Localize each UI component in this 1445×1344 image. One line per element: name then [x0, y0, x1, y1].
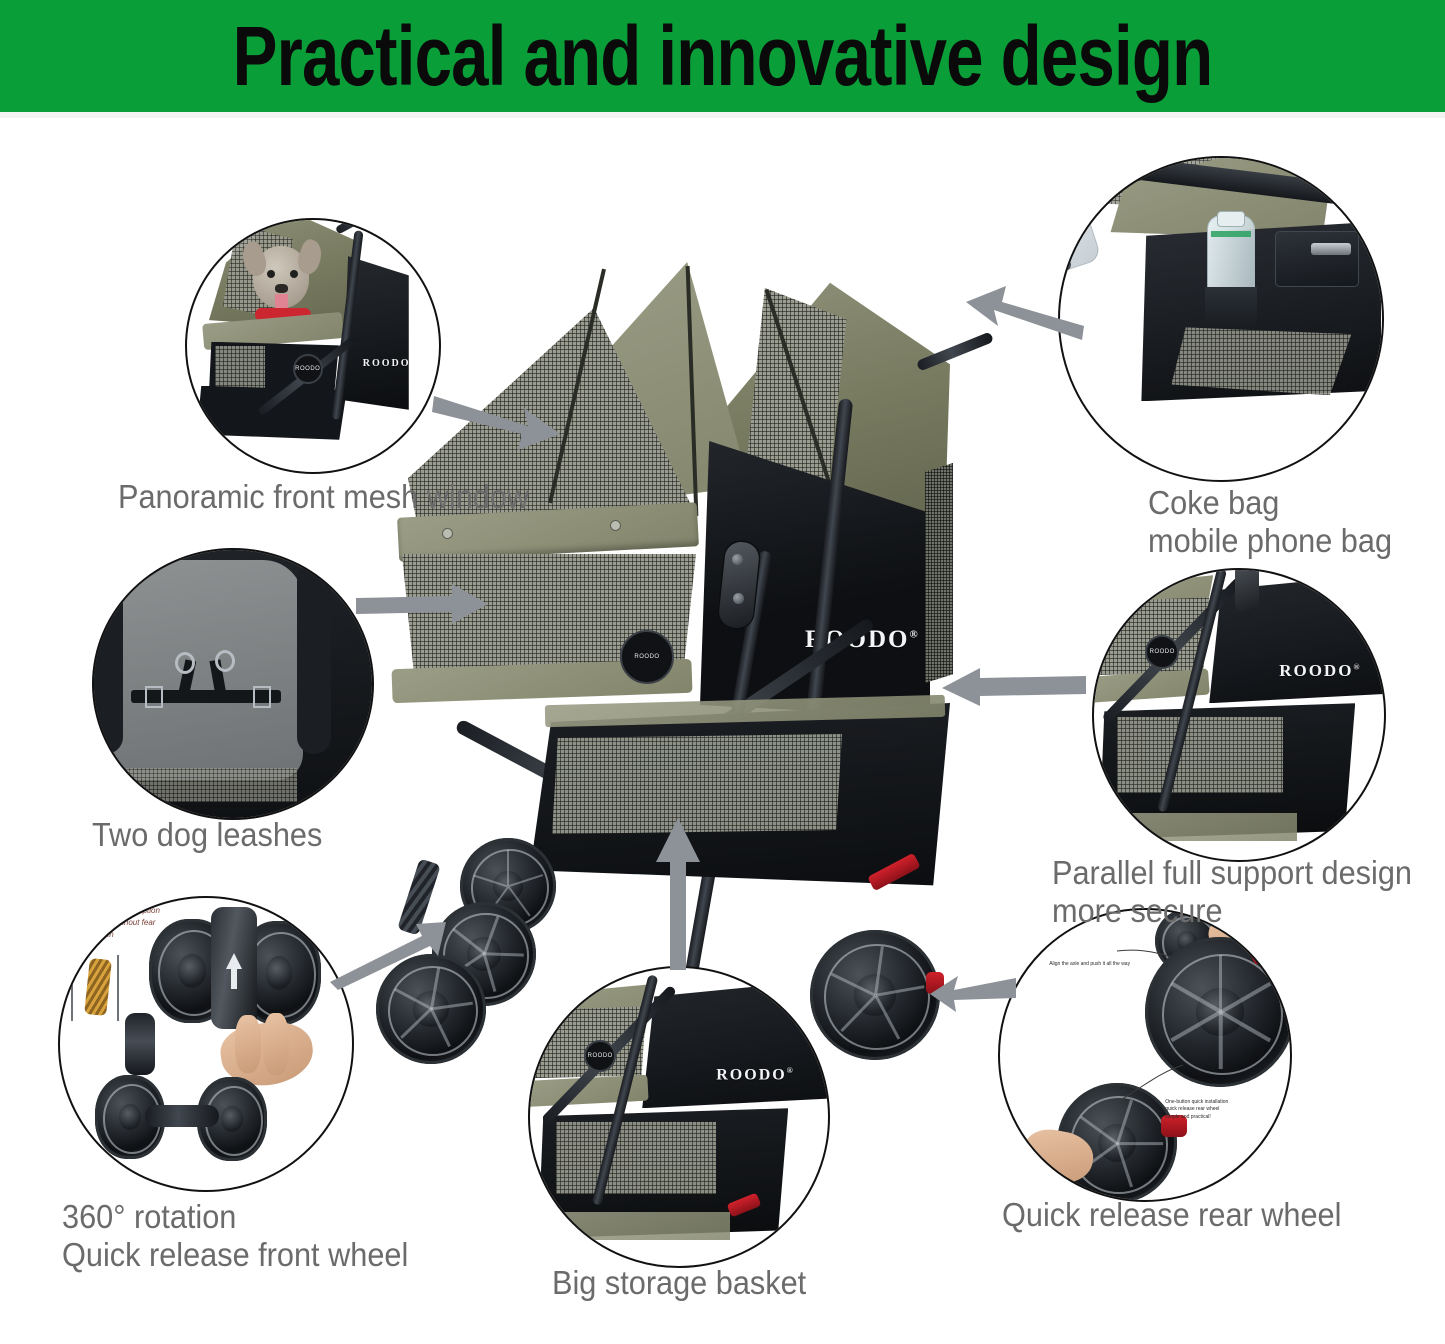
leash-clip [215, 650, 235, 672]
arrow-leashes-to-product [356, 584, 490, 628]
label-coke-bag-mobile-phone-bag: Coke bagmobile phone bag [1148, 484, 1392, 561]
brand-badge: ROODO [620, 630, 674, 684]
callout-photo-parallel-support: ROODO® ROODO [1092, 568, 1386, 862]
callout-big-storage-basket[interactable]: ROODO® ROODO [528, 966, 830, 1268]
label-big-storage-basket: Big storage basket [552, 1264, 806, 1302]
arrow-front-wheel-to-product [330, 918, 448, 990]
rear-wheel [810, 930, 940, 1060]
inset-text-shock-absorption: Superior shock absorption performance wi… [67, 905, 160, 941]
callout-photo-rear-wheel: Align the axle and push it all the way [998, 908, 1292, 1202]
callout-quick-release-front-wheel[interactable]: Superior shock absorption performance wi… [58, 896, 354, 1192]
hinge-rivet [732, 554, 743, 565]
label-two-dog-leashes: Two dog leashes [92, 816, 322, 854]
callout-photo-storage-basket: ROODO® ROODO [528, 966, 830, 1268]
page-title: Practical and innovative design [145, 0, 1301, 112]
label-quick-release-rear-wheel: Quick release rear wheel [1002, 1196, 1341, 1234]
callout-panoramic-front-mesh-window[interactable]: ROODO ROODO [185, 218, 441, 474]
callout-quick-release-rear-wheel[interactable]: Align the axle and push it all the way [998, 908, 1292, 1202]
arrow-storage-basket-to-product [654, 818, 702, 970]
arrow-parallel-support-to-product [940, 668, 1086, 708]
body-side-mesh [925, 463, 953, 683]
arrow-rear-wheel-to-product [930, 968, 1016, 1020]
callout-parallel-full-support[interactable]: ROODO® ROODO [1092, 568, 1386, 862]
label-quick-release-front-wheel: 360° rotationQuick release front wheel [62, 1198, 408, 1275]
label-parallel-full-support: Parallel full support designmore secure [1052, 854, 1412, 931]
infographic-stage: ROODO® ROODO [0, 118, 1445, 1344]
arrow-panoramic-to-product [432, 390, 562, 456]
trim-rivet [610, 520, 621, 531]
callout-photo-front-wheel: Superior shock absorption performance wi… [58, 896, 354, 1192]
callout-photo-coke-bag [1058, 156, 1384, 482]
inset-text-one-button: One-button quick installation quick rele… [1165, 1099, 1228, 1121]
callout-photo-panoramic: ROODO ROODO [185, 218, 441, 474]
label-panoramic-front-mesh-window: Panoramic front mesh window [118, 478, 529, 516]
leash-clip [175, 652, 195, 674]
header-banner: Practical and innovative design [0, 0, 1445, 112]
hinge-rivet [733, 593, 744, 604]
arrow-coke-bag-to-product [966, 284, 1084, 350]
callout-two-dog-leashes[interactable] [92, 548, 374, 820]
callout-coke-bag-mobile-phone-bag[interactable] [1058, 156, 1384, 482]
callout-photo-leashes [92, 548, 374, 820]
